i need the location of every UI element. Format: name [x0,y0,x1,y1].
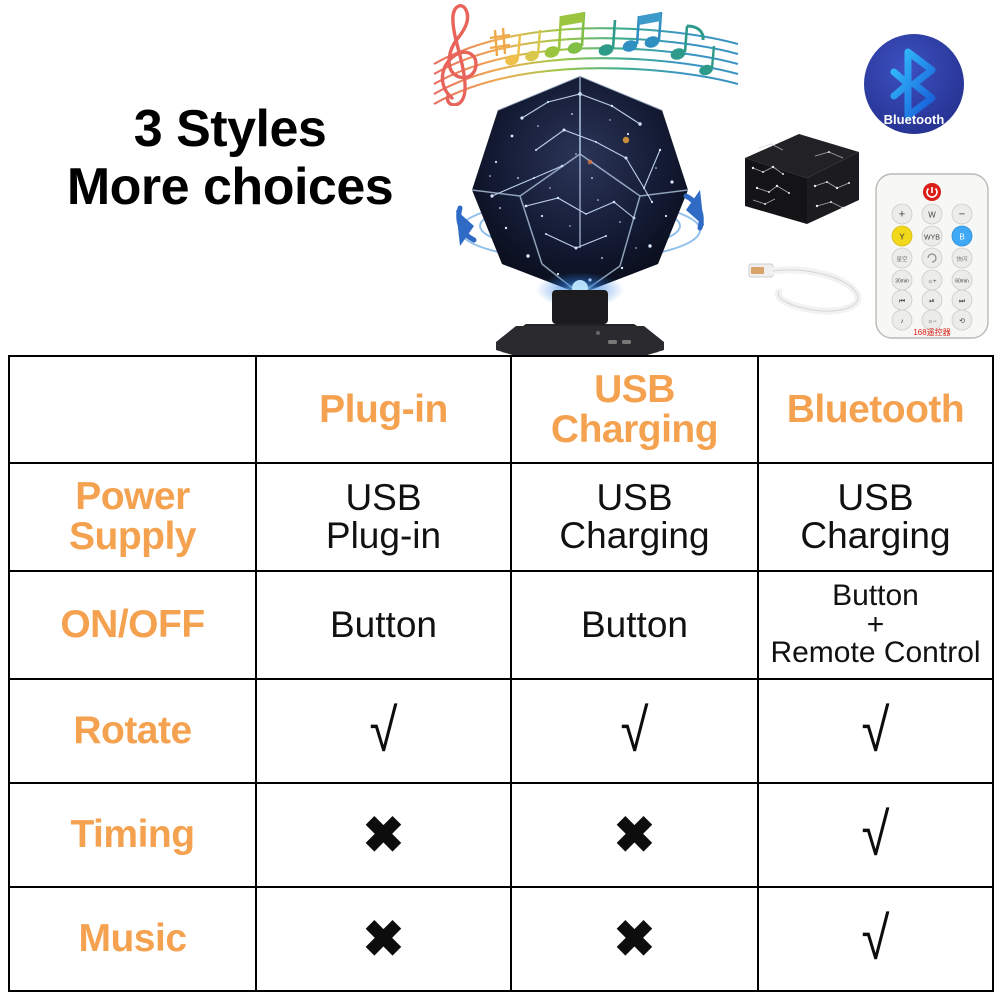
cross-icon: ✖ [614,914,656,964]
cell-rotate-bluetooth: √ [758,679,993,783]
svg-text:+: + [899,209,905,221]
row-label-line1: Power [14,477,251,517]
cell-timing-usb: ✖ [511,783,758,887]
table-header-row: Plug-in USB Charging Bluetooth [9,356,993,463]
header-cell-plugin: Plug-in [256,356,511,463]
svg-text:☼+: ☼+ [927,279,936,285]
svg-text:60min: 60min [955,279,969,285]
cell-line2: Plug-in [261,517,506,555]
hero-section: 3 Styles More choices [0,0,1000,355]
comparison-table: Plug-in USB Charging Bluetooth Power Sup… [8,355,994,992]
svg-text:Y: Y [899,233,905,242]
constellation-gift-box [737,126,867,231]
header-cell-usb-charging: USB Charging [511,356,758,463]
remote-control: + W − Y WYB B 星空 快闪 [872,172,992,340]
svg-text:星空: 星空 [896,255,908,263]
cell-line2: Charging [516,517,753,555]
row-label-rotate: Rotate [9,679,256,783]
check-icon: √ [862,909,890,969]
row-label-timing: Timing [9,783,256,887]
svg-text:☼−: ☼− [927,319,936,325]
bluetooth-badge-label: Bluetooth [884,112,945,127]
usb-cable [745,248,875,320]
check-icon: √ [862,701,890,761]
bluetooth-badge: Bluetooth [862,32,966,136]
cell-music-usb: ✖ [511,887,758,991]
remote-model-label: 168遥控器 [913,327,950,337]
table-row: Rotate √ √ √ [9,679,993,783]
svg-text:WYB: WYB [924,235,940,242]
cell-power-bluetooth: USB Charging [758,463,993,571]
row-label-music: Music [9,887,256,991]
headline-line-1: 3 Styles [30,100,430,158]
svg-text:⏭: ⏭ [959,298,966,305]
svg-text:♪: ♪ [900,318,904,325]
cell-line2: + [763,611,988,640]
row-label-onoff: ON/OFF [9,571,256,679]
cell-music-plugin: ✖ [256,887,511,991]
row-label-power-supply: Power Supply [9,463,256,571]
svg-text:⏮: ⏮ [899,298,905,305]
cross-icon: ✖ [614,810,656,860]
svg-text:−: − [959,209,965,221]
check-icon: √ [370,701,398,761]
cell-power-usb: USB Charging [511,463,758,571]
table-row: Music ✖ ✖ √ [9,887,993,991]
cell-onoff-plugin: Button [256,571,511,679]
svg-text:快闪: 快闪 [956,255,968,263]
cell-line1: USB [763,479,988,517]
cell-rotate-usb: √ [511,679,758,783]
cell-timing-bluetooth: √ [758,783,993,887]
cross-icon: ✖ [363,810,405,860]
header-usb-line1: USB [516,370,753,410]
svg-text:30min: 30min [895,279,909,285]
star-projector-lamp [430,58,730,355]
table-row: ON/OFF Button Button Button + Remote Con… [9,571,993,679]
svg-text:W: W [928,211,936,220]
cell-line1: Button [763,582,988,611]
cell-timing-plugin: ✖ [256,783,511,887]
table-row: Power Supply USB Plug-in USB Charging US… [9,463,993,571]
header-usb-line2: Charging [516,410,753,450]
header-cell-empty [9,356,256,463]
table-row: Timing ✖ ✖ √ [9,783,993,887]
check-icon: √ [621,701,649,761]
cell-music-bluetooth: √ [758,887,993,991]
cross-icon: ✖ [363,914,405,964]
svg-text:⟲: ⟲ [959,318,965,325]
cell-rotate-plugin: √ [256,679,511,783]
row-label-line2: Supply [14,517,251,557]
cell-line2: Charging [763,517,988,555]
cell-onoff-usb: Button [511,571,758,679]
infographic-page: 3 Styles More choices [0,0,1000,1000]
svg-text:B: B [959,233,964,242]
cell-line1: USB [516,479,753,517]
cell-power-plugin: USB Plug-in [256,463,511,571]
headline-line-2: More choices [30,158,430,216]
cell-line1: USB [261,479,506,517]
header-cell-bluetooth: Bluetooth [758,356,993,463]
cell-line3: Remote Control [763,639,988,668]
svg-text:⏯: ⏯ [929,298,935,305]
cell-onoff-bluetooth: Button + Remote Control [758,571,993,679]
check-icon: √ [862,805,890,865]
page-title: 3 Styles More choices [30,100,430,216]
